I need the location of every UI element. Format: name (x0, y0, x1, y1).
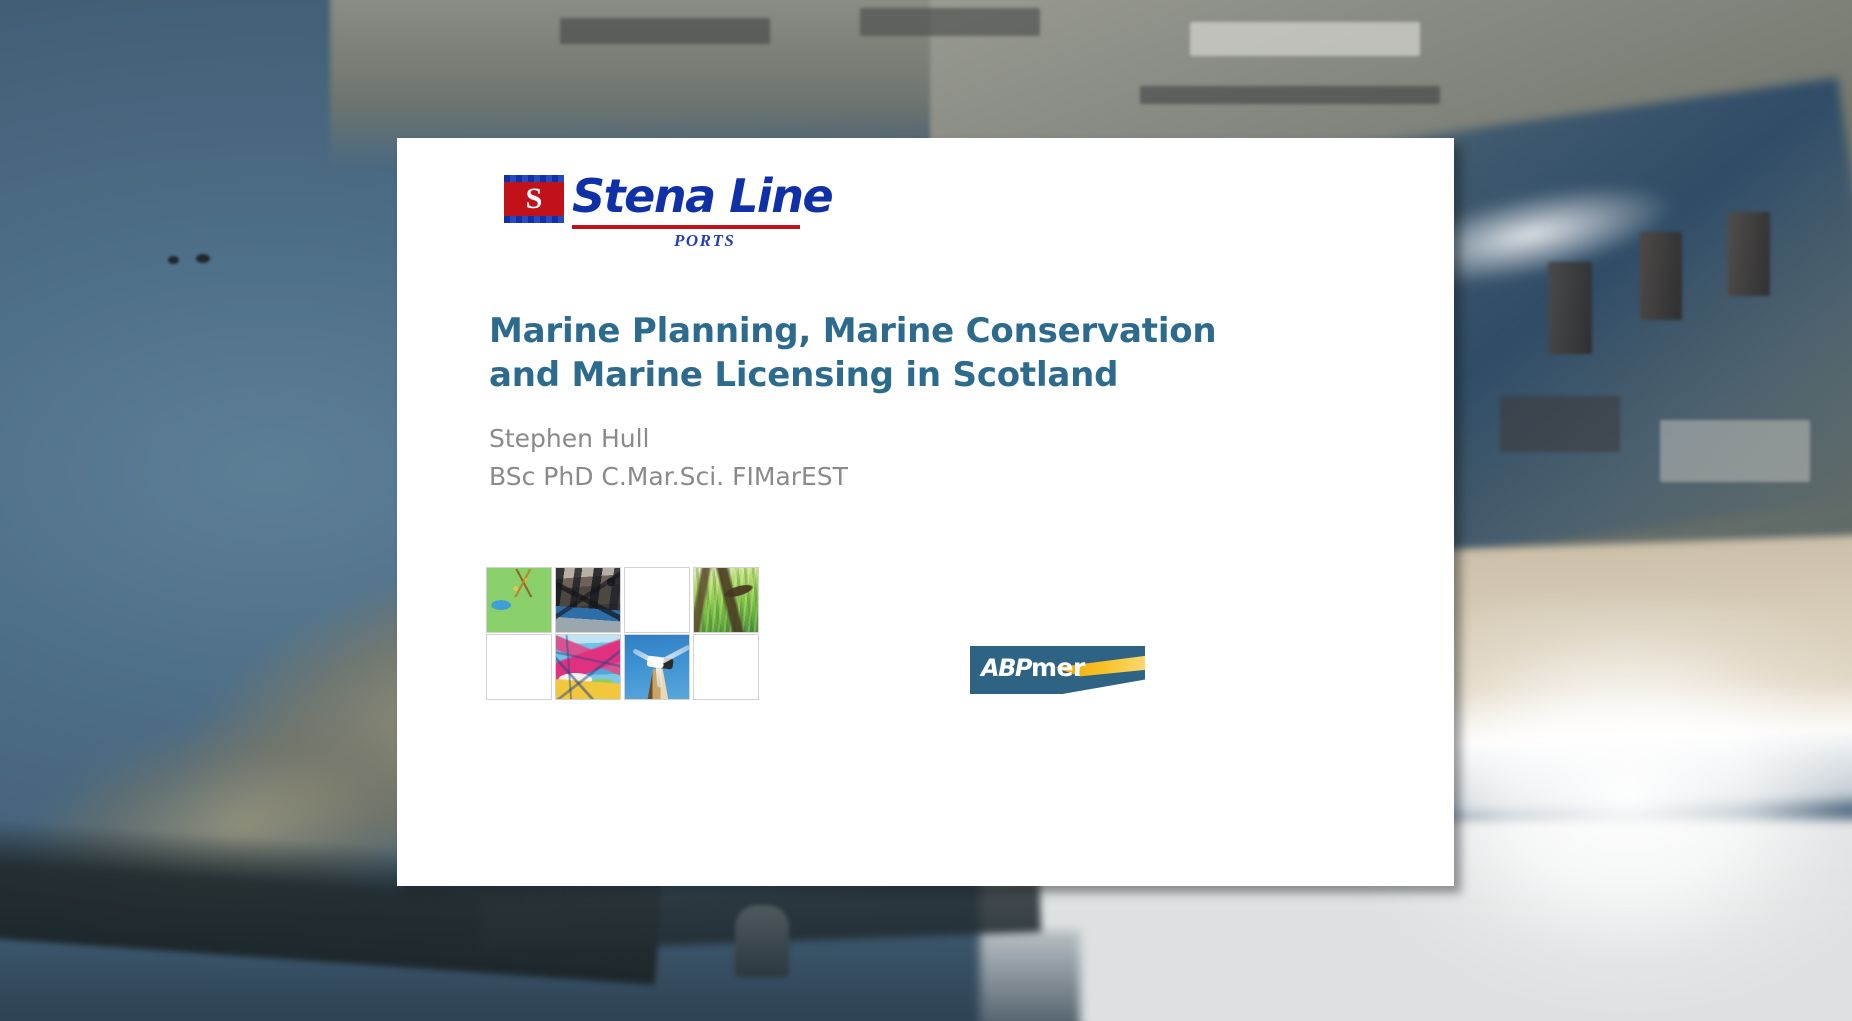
background-building (560, 18, 770, 44)
background-highrise (1548, 262, 1592, 354)
author-block: Stephen Hull BSc PhD C.Mar.Sci. FIMarEST (489, 420, 1189, 495)
abpmer-wordmark: ABPmer (981, 655, 1085, 680)
presentation-slide: S Stena Line PORTS Marine Planning, Mari… (397, 138, 1454, 886)
background-lighthouse (735, 905, 789, 977)
thumbnail-seagrass-underwater (693, 567, 759, 633)
background-building (1500, 396, 1620, 452)
port-industrial-machinery-icon (556, 568, 620, 632)
thumbnail-empty-placeholder-1 (624, 567, 690, 633)
slide-title: Marine Planning, Marine Conservation and… (489, 310, 1289, 397)
thumbnail-port-industrial-machinery (555, 567, 621, 633)
thumbnail-habitat-gis-map (555, 634, 621, 700)
slide-title-line-1: Marine Planning, Marine Conservation (489, 310, 1289, 354)
background-building (860, 8, 1040, 36)
ports-sublabel: PORTS (674, 231, 735, 251)
flag-letter-s: S (504, 175, 564, 223)
background-road (1140, 86, 1440, 104)
background-rock (196, 254, 210, 263)
background-building (1190, 22, 1420, 56)
wordmark-underline (572, 225, 800, 229)
thumbnail-offshore-wind-turbine (624, 634, 690, 700)
bathymetry-contour-map-icon (487, 568, 551, 632)
thumbnail-grid (486, 567, 759, 700)
background-building (1660, 420, 1810, 482)
abpmer-mer-text: mer (1031, 653, 1085, 682)
stena-line-ports-logo: S Stena Line PORTS (504, 163, 804, 258)
habitat-gis-map-icon (556, 635, 620, 699)
thumbnail-empty-placeholder-3 (693, 634, 759, 700)
stena-line-wordmark: Stena Line (572, 169, 832, 223)
background-highrise (1640, 232, 1682, 320)
author-credentials: BSc PhD C.Mar.Sci. FIMarEST (489, 458, 1189, 496)
thumbnail-bathymetry-contour-map (486, 567, 552, 633)
abpmer-abp-text: ABP (981, 654, 1031, 682)
stena-flag-icon: S (504, 175, 564, 223)
author-name: Stephen Hull (489, 420, 1189, 458)
background-highrise (1728, 212, 1770, 296)
background-rock (168, 256, 179, 264)
thumbnail-empty-placeholder-2 (486, 634, 552, 700)
offshore-wind-turbine-icon (625, 635, 689, 699)
abpmer-logo: ABPmer (970, 646, 1145, 694)
slide-title-line-2: and Marine Licensing in Scotland (489, 354, 1289, 398)
seagrass-underwater-icon (694, 568, 758, 632)
